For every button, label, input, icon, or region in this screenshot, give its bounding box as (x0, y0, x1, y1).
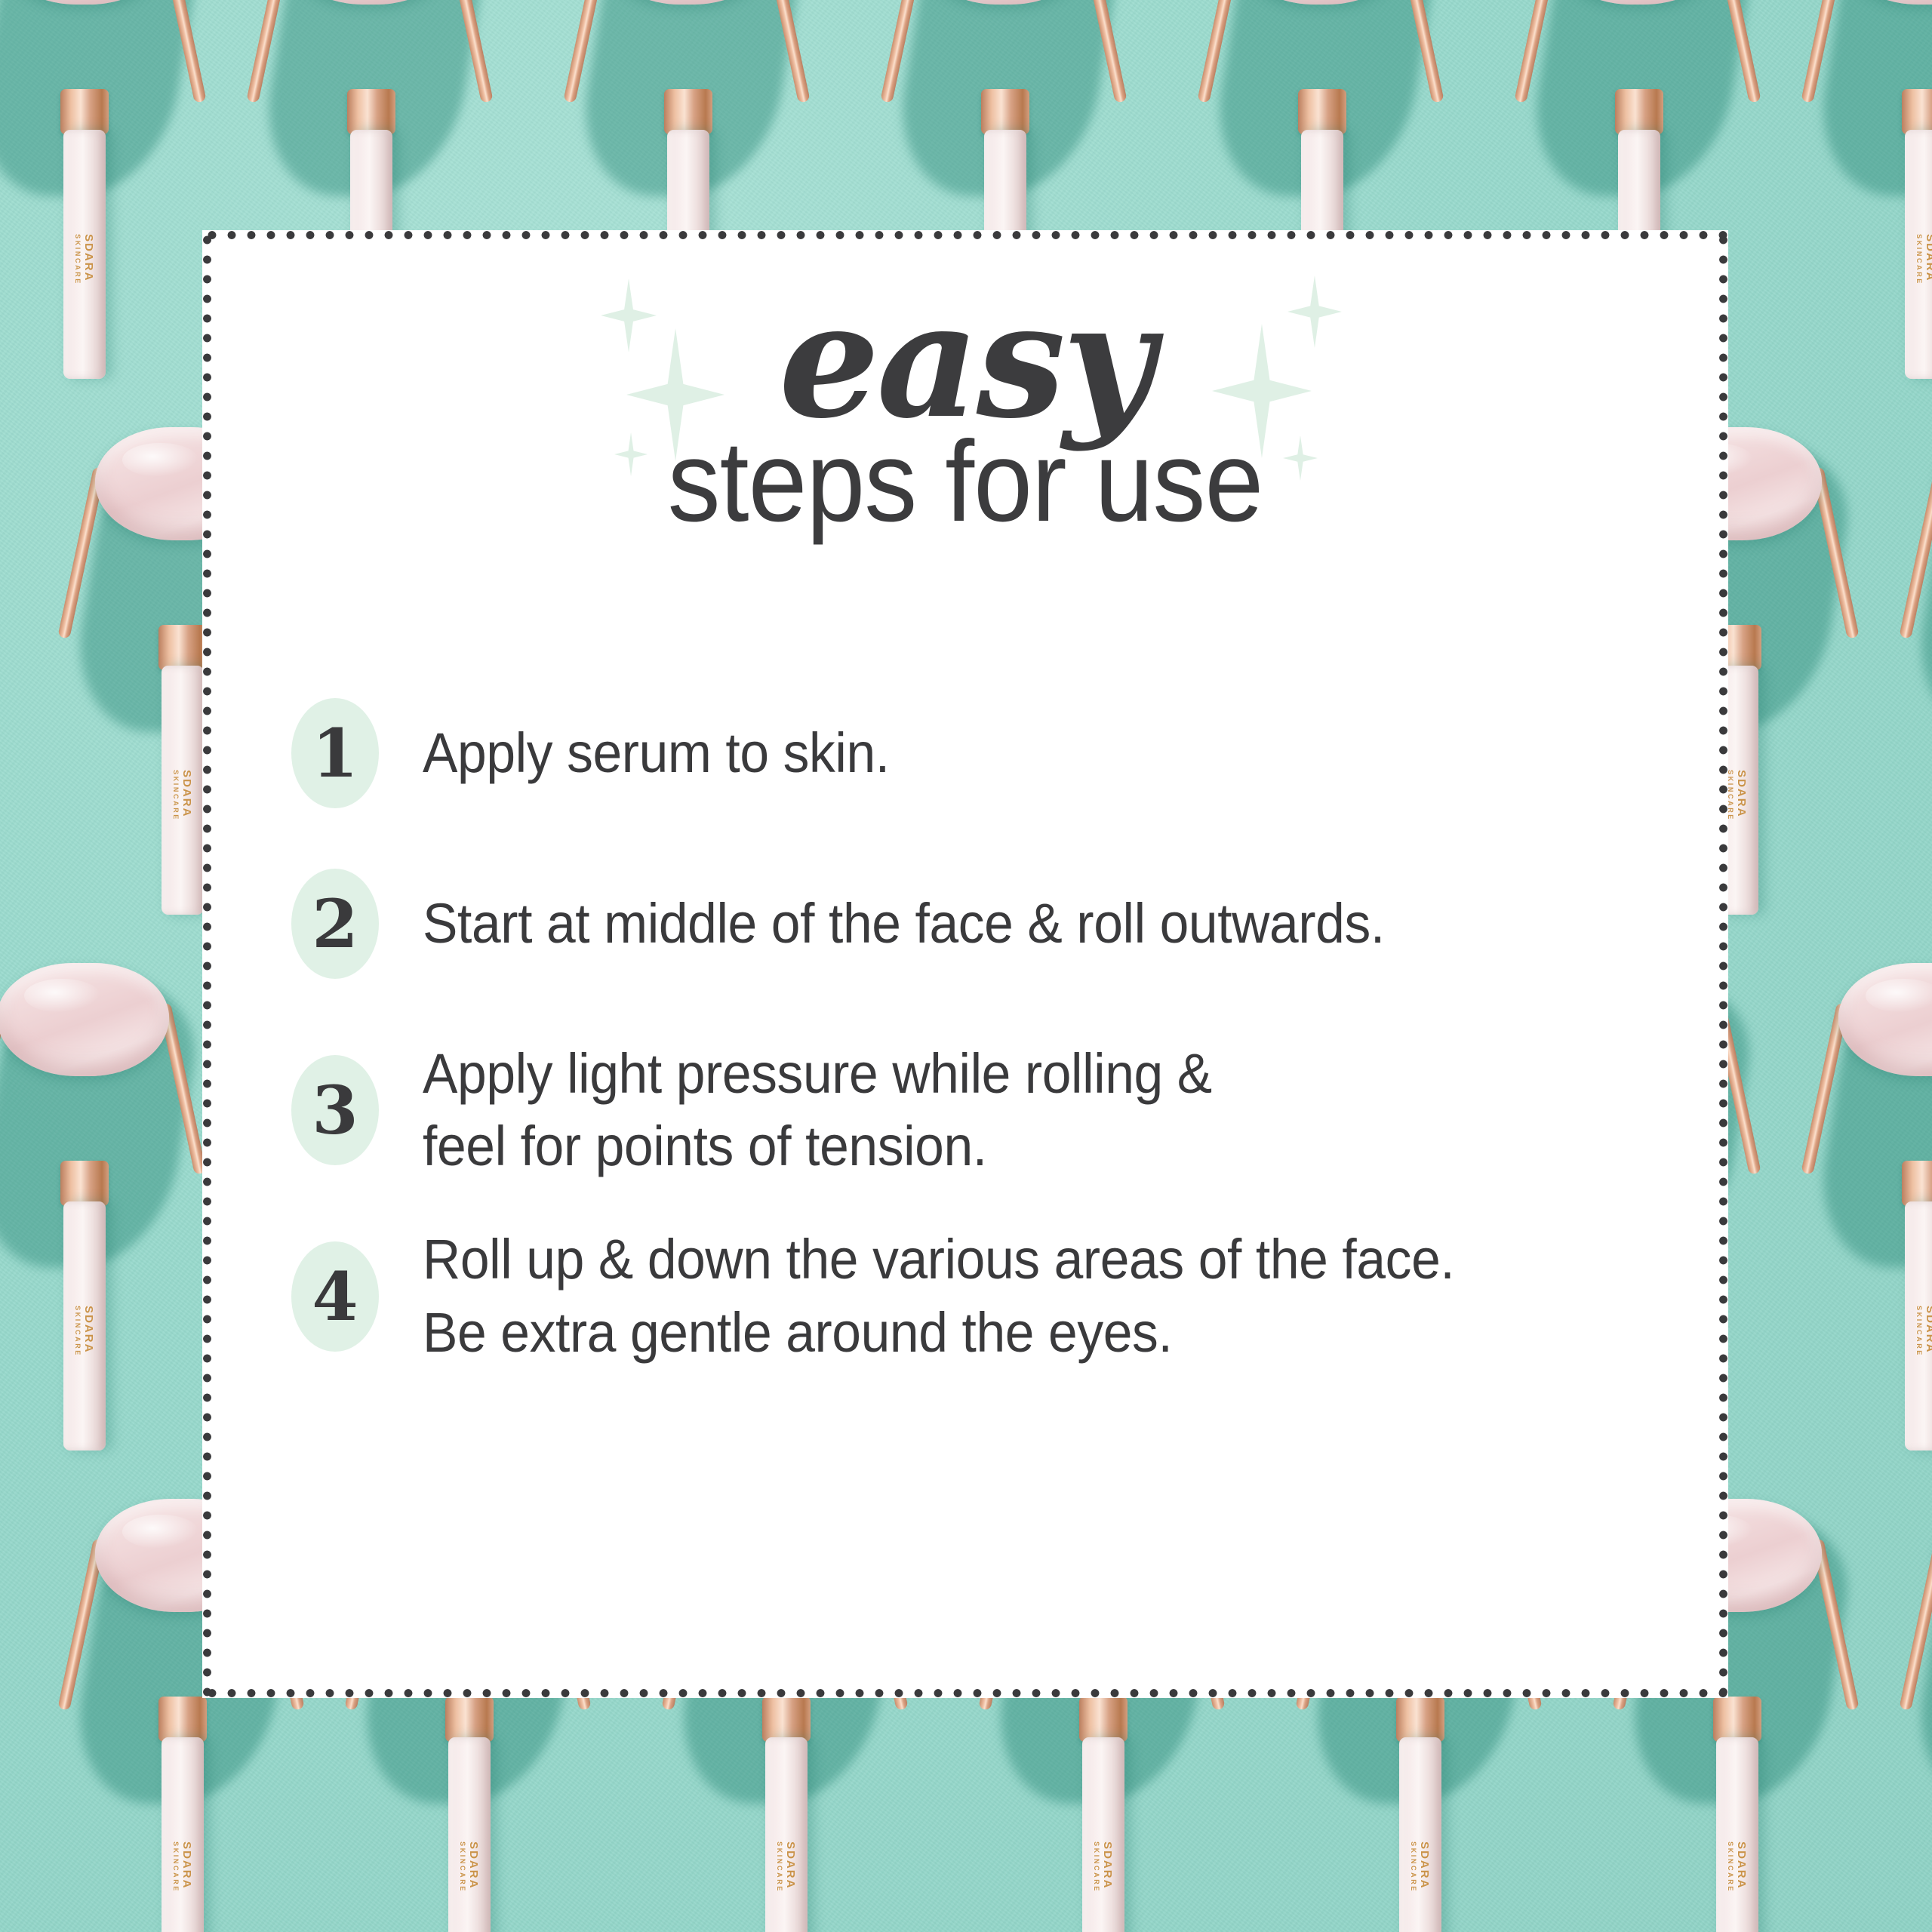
roller-collar (1713, 1697, 1761, 1742)
roller-handle: SDARASKINCARE (765, 1737, 808, 1932)
step-item-2: 2Start at middle of the face & roll outw… (291, 869, 1675, 979)
sparkle-icon (1287, 275, 1342, 348)
roller-handle: SDARASKINCARE (162, 666, 204, 915)
step-number-badge: 4 (291, 1241, 379, 1352)
easy-wordmark: easy (779, 285, 1152, 437)
roller-handle: SDARASKINCARE (1716, 1737, 1758, 1932)
brand-logo: SDARASKINCARE (172, 770, 193, 821)
step-description: Roll up & down the various areas of the … (423, 1223, 1454, 1368)
step-spacer (291, 1183, 1675, 1223)
brand-logo: SDARASKINCARE (74, 1306, 95, 1357)
step-number-badge: 1 (291, 698, 379, 808)
title-script-word: easy (779, 285, 1152, 437)
brand-logo: SDARASKINCARE (459, 1841, 480, 1893)
roller-handle: SDARASKINCARE (1082, 1737, 1124, 1932)
page-title: easy steps for use (202, 285, 1728, 540)
brand-logo: SDARASKINCARE (172, 1841, 193, 1893)
brand-logo: SDARASKINCARE (1410, 1841, 1431, 1893)
roller-handle: SDARASKINCARE (1905, 130, 1932, 379)
step-item-3: 3Apply light pressure while rolling & fe… (291, 1038, 1675, 1183)
brand-logo: SDARASKINCARE (1727, 770, 1748, 821)
roller-collar (1298, 89, 1346, 134)
brand-logo: SDARASKINCARE (1915, 1306, 1932, 1357)
roller-collar (158, 625, 207, 670)
roller-handle: SDARASKINCARE (1399, 1737, 1441, 1932)
roller-collar (1615, 89, 1663, 134)
step-spacer (291, 979, 1675, 1038)
roller-collar (762, 1697, 811, 1742)
roller-collar (1902, 89, 1932, 134)
step-number-badge: 3 (291, 1055, 379, 1165)
roller-handle: SDARASKINCARE (63, 1201, 106, 1451)
roller-handle: SDARASKINCARE (63, 130, 106, 379)
roller-collar (981, 89, 1029, 134)
step-spacer (291, 808, 1675, 869)
roller-collar (60, 1161, 109, 1206)
roller-collar (60, 89, 109, 134)
roller-handle: SDARASKINCARE (1905, 1201, 1932, 1451)
roller-collar (1079, 1697, 1128, 1742)
brand-logo: SDARASKINCARE (1915, 234, 1932, 285)
brand-logo: SDARASKINCARE (1093, 1841, 1114, 1893)
roller-collar (158, 1697, 207, 1742)
roller-collar (664, 89, 712, 134)
brand-logo: SDARASKINCARE (776, 1841, 797, 1893)
brand-logo: SDARASKINCARE (1727, 1841, 1748, 1893)
step-description: Apply serum to skin. (423, 717, 890, 789)
roller-handle: SDARASKINCARE (162, 1737, 204, 1932)
step-number-badge: 2 (291, 869, 379, 979)
roller-collar (1902, 1161, 1932, 1206)
brand-logo: SDARASKINCARE (74, 234, 95, 285)
step-description: Apply light pressure while rolling & fee… (423, 1038, 1212, 1183)
content-card: easy steps for use 1Apply serum to skin.… (202, 230, 1728, 1698)
steps-list: 1Apply serum to skin.2Start at middle of… (291, 698, 1675, 1369)
sparkle-icon (601, 278, 657, 352)
roller-handle: SDARASKINCARE (448, 1737, 491, 1932)
step-description: Start at middle of the face & roll outwa… (423, 888, 1385, 960)
roller-collar (347, 89, 395, 134)
roller-stone-head (0, 963, 169, 1076)
roller-collar (445, 1697, 494, 1742)
step-item-4: 4Roll up & down the various areas of the… (291, 1223, 1675, 1368)
step-item-1: 1Apply serum to skin. (291, 698, 1675, 808)
roller-collar (1396, 1697, 1444, 1742)
